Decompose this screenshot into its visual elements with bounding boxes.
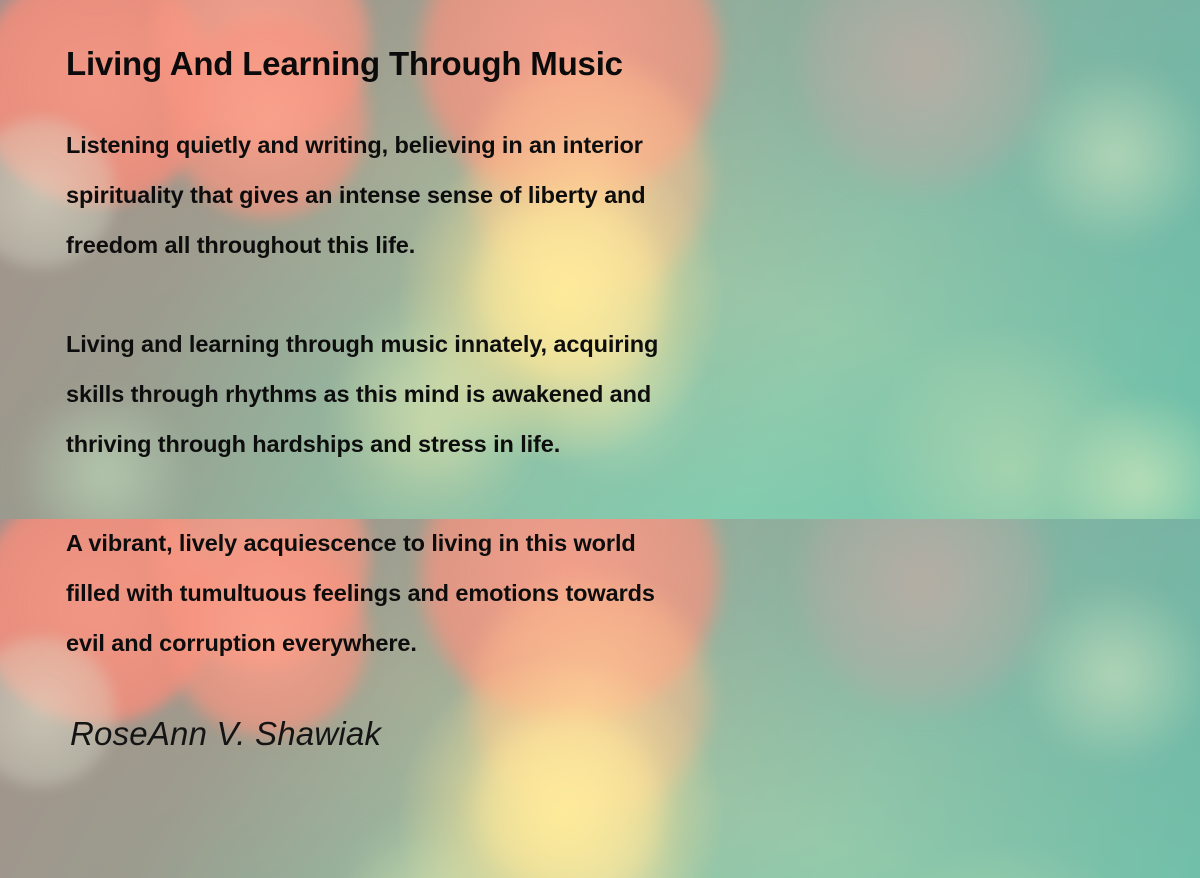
poem-image-card: Living And Learning Through Music Listen… (0, 0, 1200, 878)
author-signature: RoseAnn V. Shawiak (70, 715, 1200, 753)
poem-line: evil and corruption everywhere. (66, 630, 417, 656)
poem-line: filled with tumultuous feelings and emot… (66, 580, 655, 606)
poem-line: thriving through hardships and stress in… (66, 431, 560, 457)
poem-stanza: Listening quietly and writing, believing… (66, 120, 1200, 270)
poem-line: skills through rhythms as this mind is a… (66, 381, 651, 407)
poem-stanza: A vibrant, lively acquiescence to living… (66, 518, 1200, 668)
poem-line: Living and learning through music innate… (66, 331, 658, 357)
poem-line: freedom all throughout this life. (66, 232, 415, 258)
poem-line: A vibrant, lively acquiescence to living… (66, 530, 636, 556)
poem-content: Living And Learning Through Music Listen… (0, 0, 1200, 878)
poem-line: Listening quietly and writing, believing… (66, 132, 643, 158)
poem-stanza: Living and learning through music innate… (66, 319, 1200, 469)
poem-line: spirituality that gives an intense sense… (66, 182, 646, 208)
poem-title: Living And Learning Through Music (66, 44, 1200, 84)
